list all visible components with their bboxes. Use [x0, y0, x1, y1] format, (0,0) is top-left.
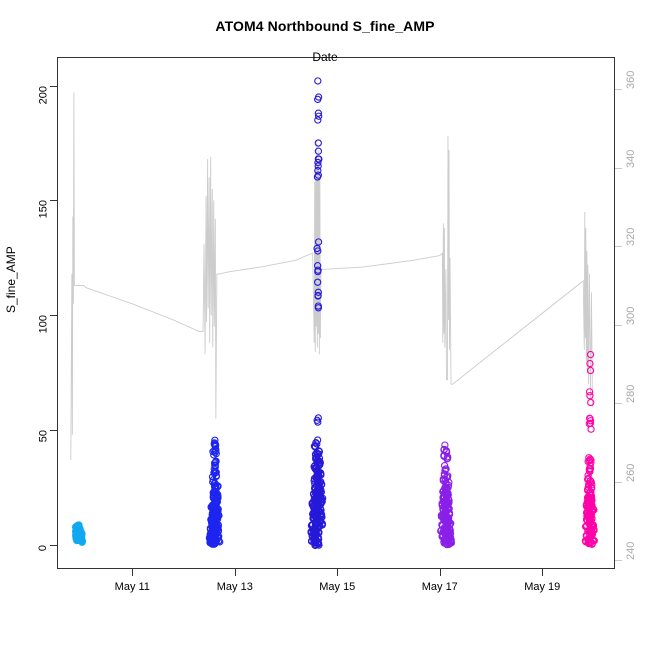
data-point — [315, 140, 321, 146]
plot-area — [57, 57, 615, 569]
line-series-raw-signal — [71, 92, 593, 460]
y-tick-label-right: 360 — [625, 71, 637, 89]
scatter-series-cluster-1 — [73, 522, 86, 545]
data-point — [588, 426, 594, 432]
y-tick-label-right: 280 — [625, 385, 637, 403]
y-tick-label: 0 — [37, 545, 49, 551]
y-tick-label-right: 320 — [625, 228, 637, 246]
y-tick-mark-right — [615, 246, 622, 247]
y-tick-label-right: 340 — [625, 149, 637, 167]
x-tick-mark — [542, 569, 543, 576]
x-tick-label: May 11 — [115, 581, 150, 593]
x-tick-label: May 13 — [217, 581, 253, 593]
y-tick-mark-right — [615, 560, 622, 561]
data-point — [586, 389, 592, 395]
y-tick-mark — [50, 315, 57, 316]
y-axis-title: S_fine_AMP — [4, 246, 18, 313]
scatter-series-cluster-2 — [206, 437, 222, 547]
x-axis: May 11May 13May 15May 17May 19 — [0, 569, 650, 629]
y-axis-right: 360340320300280260240 — [615, 0, 650, 650]
x-tick-mark — [337, 569, 338, 576]
y-tick-mark-right — [615, 325, 622, 326]
plot-canvas — [58, 58, 614, 568]
y-tick-mark — [50, 200, 57, 201]
y-tick-mark-right — [615, 482, 622, 483]
x-tick-mark — [440, 569, 441, 576]
y-tick-label-right: 260 — [625, 463, 637, 481]
y-tick-label: 100 — [37, 315, 49, 333]
x-tick-label: May 19 — [524, 581, 560, 593]
y-tick-label: 50 — [37, 430, 49, 442]
y-tick-mark — [50, 545, 57, 546]
y-tick-label: 150 — [37, 200, 49, 218]
y-tick-label-right: 240 — [625, 542, 637, 560]
y-axis-left: 200150100500 — [0, 0, 57, 650]
y-tick-mark-right — [615, 168, 622, 169]
x-tick-mark — [132, 569, 133, 576]
x-tick-label: May 15 — [319, 581, 355, 593]
y-tick-label-right: 300 — [625, 306, 637, 324]
y-tick-label: 200 — [37, 86, 49, 104]
chart-root: ATOM4 Northbound S_fine_AMP 200150100500… — [0, 0, 650, 650]
y-tick-mark — [50, 86, 57, 87]
y-tick-mark-right — [615, 89, 622, 90]
data-point — [315, 78, 321, 84]
x-tick-label: May 17 — [422, 581, 458, 593]
y-tick-mark — [50, 430, 57, 431]
x-tick-mark — [235, 569, 236, 576]
y-tick-mark-right — [615, 403, 622, 404]
scatter-series-cluster-4 — [438, 442, 455, 548]
x-axis-title: Date — [0, 50, 650, 64]
chart-title: ATOM4 Northbound S_fine_AMP — [0, 18, 650, 34]
